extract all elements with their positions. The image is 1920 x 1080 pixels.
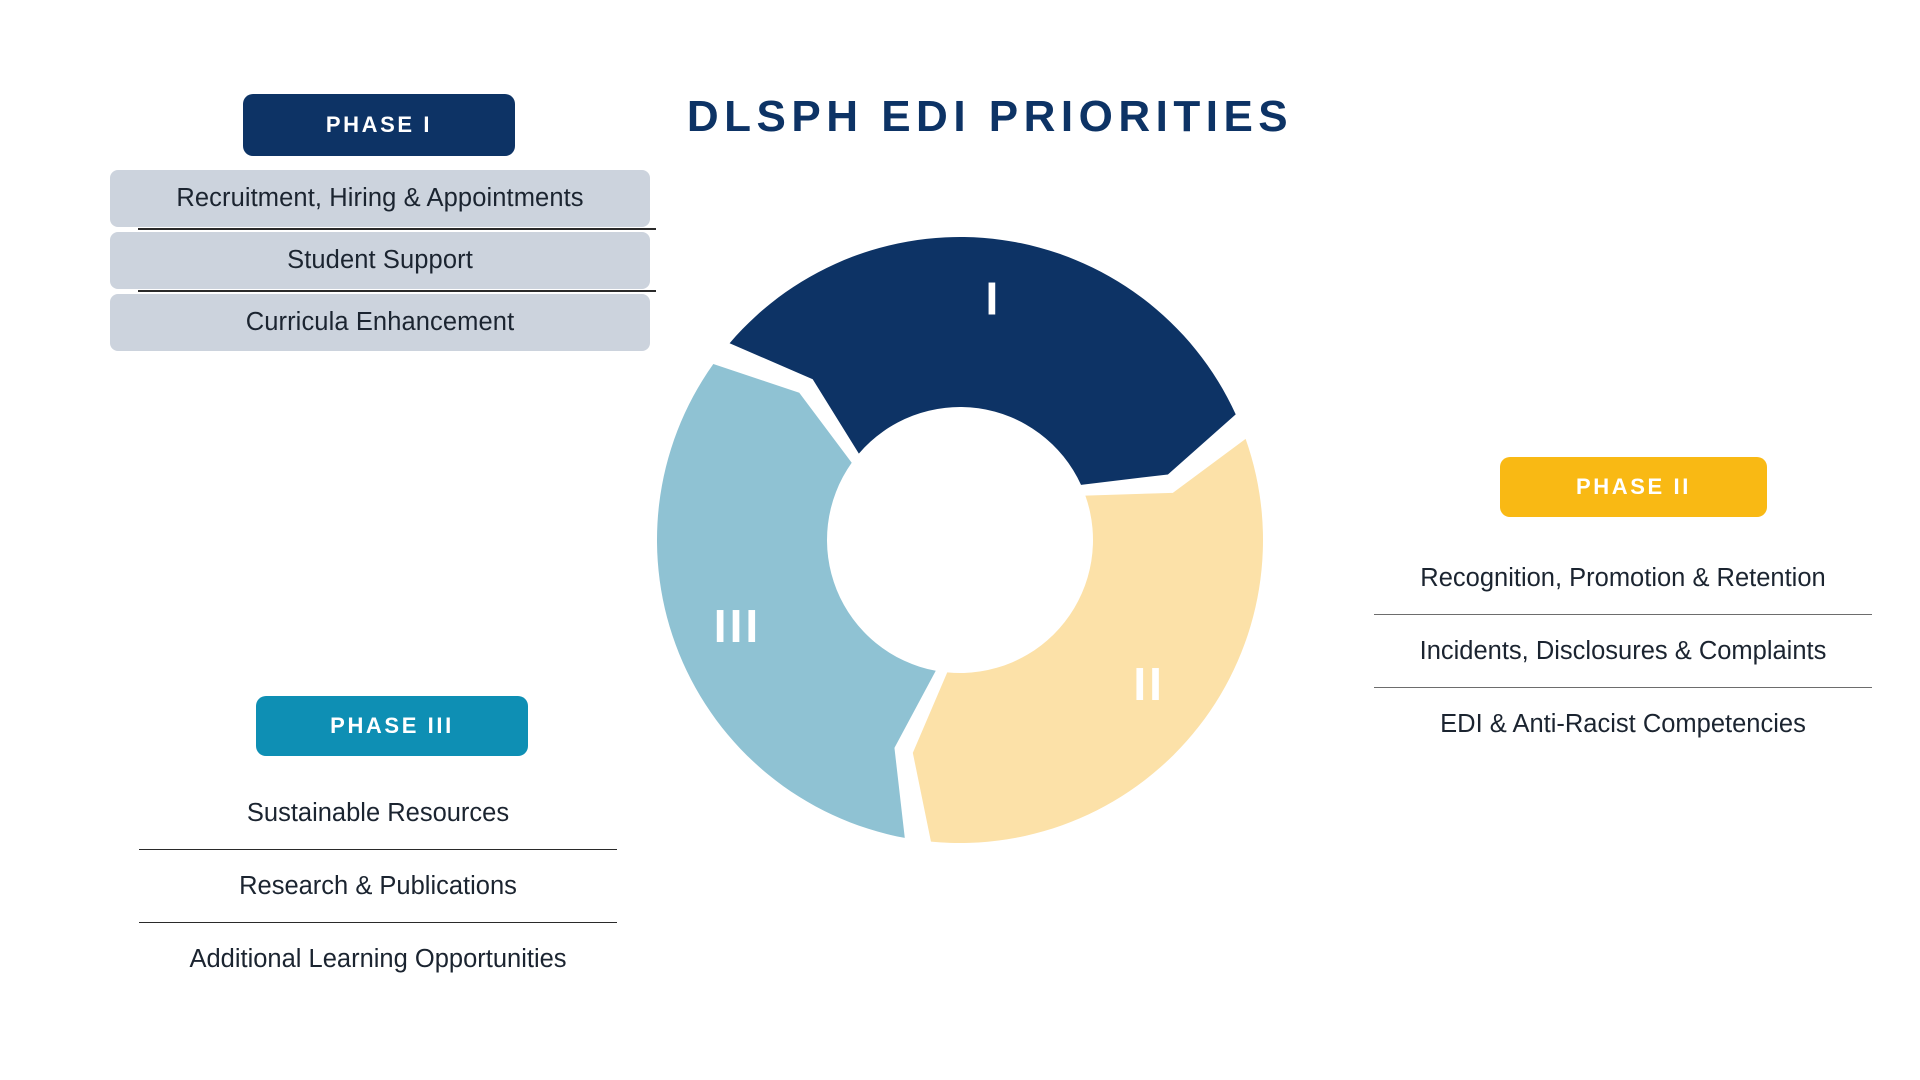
list-item: EDI & Anti-Racist Competencies [1368,688,1878,761]
phase-2-item-label: EDI & Anti-Racist Competencies [1440,710,1806,739]
phase-1-badge: PHASE I [243,94,515,156]
list-item: Student Support [110,232,650,289]
phase-3-item-list: Sustainable Resources Research & Publica… [133,777,623,996]
phase-1-item-label: Student Support [287,246,473,275]
list-item: Sustainable Resources [133,777,623,850]
phase-1-item-label: Curricula Enhancement [246,308,515,337]
phase-3-badge-label: PHASE III [330,713,454,739]
list-item: Additional Learning Opportunities [133,923,623,996]
phase-2-item-label: Recognition, Promotion & Retention [1420,564,1825,593]
donut-chart-svg: I II III [605,185,1315,895]
segment-numeral-3: III [714,600,761,652]
donut-segment-III [657,364,936,838]
phase-2-item-label: Incidents, Disclosures & Complaints [1420,637,1827,666]
phase-3-item-label: Sustainable Resources [247,799,509,828]
phase-1-badge-label: PHASE I [326,112,432,138]
list-divider [138,290,656,292]
phase-2-badge: PHASE II [1500,457,1767,517]
phase-3-badge: PHASE III [256,696,528,756]
list-item: Recognition, Promotion & Retention [1368,542,1878,615]
phase-3-item-label: Additional Learning Opportunities [189,945,566,974]
segment-numeral-1: I [986,272,1002,324]
list-item: Incidents, Disclosures & Complaints [1368,615,1878,688]
phase-1-item-label: Recruitment, Hiring & Appointments [176,184,583,213]
phase-1-item-list: Recruitment, Hiring & Appointments Stude… [110,170,650,351]
list-item: Research & Publications [133,850,623,923]
page-title: DLSPH EDI PRIORITIES [640,92,1340,142]
list-item: Recruitment, Hiring & Appointments [110,170,650,227]
edi-priorities-cycle-chart: I II III [605,185,1315,895]
segment-numeral-2: II [1133,658,1165,710]
list-divider [138,228,656,230]
list-item: Curricula Enhancement [110,294,650,351]
phase-2-item-list: Recognition, Promotion & Retention Incid… [1368,542,1878,761]
phase-3-item-label: Research & Publications [239,872,517,901]
phase-2-badge-label: PHASE II [1576,474,1691,500]
donut-segment-II [913,439,1263,843]
